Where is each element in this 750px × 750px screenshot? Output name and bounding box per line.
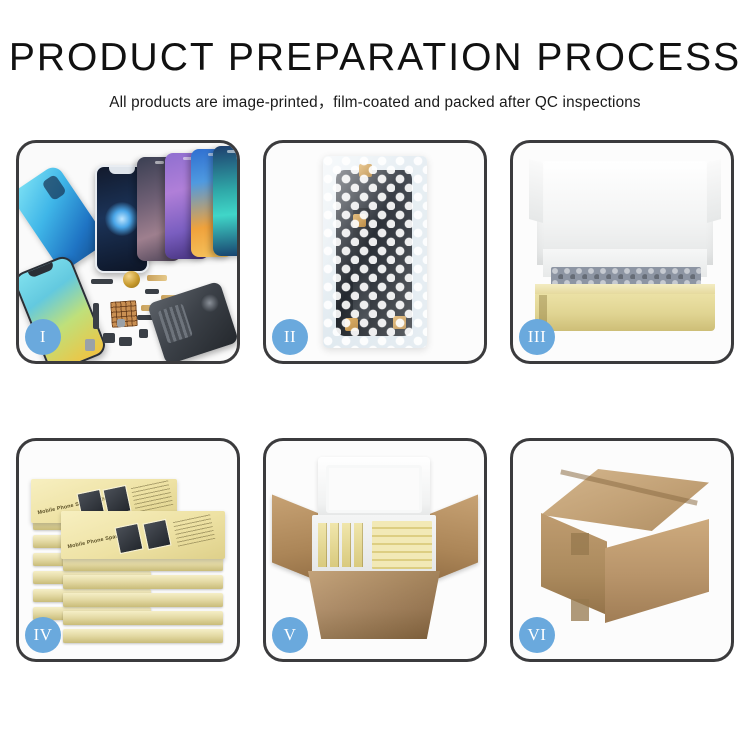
step-2-badge: II [272, 319, 308, 355]
box-spec-text-icon [131, 479, 174, 512]
phone-chassis-icon [147, 281, 237, 361]
part-icon [139, 329, 148, 338]
carton-tape-icon [571, 533, 589, 555]
box-spec-text-icon [173, 513, 216, 546]
bag-sheen [323, 156, 427, 348]
coin-part-icon [123, 271, 140, 288]
part-icon [85, 339, 95, 351]
yellow-box-tray-icon [535, 293, 715, 331]
page-title: PRODUCT PREPARATION PROCESS [0, 38, 750, 79]
yellow-box-icon [342, 523, 351, 567]
foam-lid-icon [318, 457, 430, 523]
process-step-6: VI [510, 438, 734, 662]
yellow-box-icon [354, 523, 363, 567]
yellow-box-icon [318, 523, 327, 567]
part-icon [117, 319, 125, 327]
step-5-badge: V [272, 617, 308, 653]
bubble-wrap-bag [323, 156, 427, 348]
stacked-box [63, 593, 223, 607]
yellow-box-stack-icon [372, 521, 432, 569]
box-window-icon [114, 523, 143, 554]
process-step-2: II [263, 140, 487, 364]
step-3-badge: III [519, 319, 555, 355]
bag-body [323, 156, 427, 348]
carton-body-icon [308, 571, 440, 639]
top-retail-box-2: Mobile Phone Spare Parts [61, 511, 225, 559]
box-window-icon [142, 519, 171, 550]
carton-right-face-icon [605, 519, 709, 623]
step-1-badge: I [25, 319, 61, 355]
stacked-box [63, 611, 223, 625]
part-icon [103, 333, 115, 343]
process-step-3: III [510, 140, 734, 364]
stacked-box [63, 575, 223, 589]
part-icon [91, 279, 113, 284]
process-step-1: I [16, 140, 240, 364]
box-stack: Mobile Phone Spare Parts Mobile Phone Sp… [31, 461, 231, 647]
part-icon [147, 275, 167, 281]
process-step-5: V [263, 438, 487, 662]
process-step-4: Mobile Phone Spare Parts Mobile Phone Sp… [16, 438, 240, 662]
page-subtitle: All products are image-printed，film-coat… [0, 90, 750, 112]
yellow-box-icon [330, 523, 339, 567]
process-step-grid: I II [16, 140, 734, 662]
part-icon [93, 303, 99, 329]
part-icon [119, 337, 132, 346]
step-4-badge: IV [25, 617, 61, 653]
stacked-box [63, 629, 223, 643]
step-6-badge: VI [519, 617, 555, 653]
phone-fan-4-icon [213, 146, 237, 256]
stacked-box [63, 557, 223, 571]
page-header: PRODUCT PREPARATION PROCESS All products… [0, 0, 750, 112]
carton-tape-icon [571, 599, 589, 621]
part-icon [145, 289, 159, 294]
